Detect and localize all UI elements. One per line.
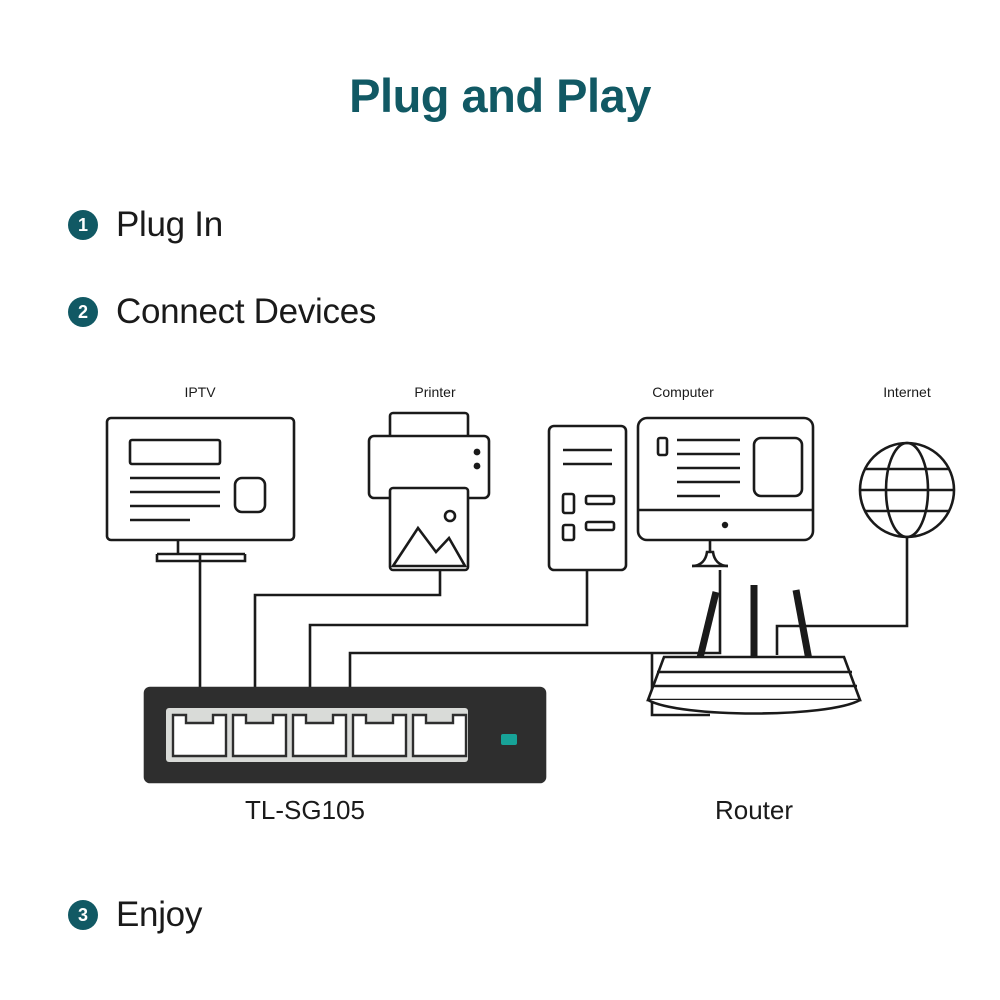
globe-icon — [860, 443, 954, 537]
step-1: 1 Plug In — [68, 205, 223, 245]
link-printer — [255, 570, 440, 690]
step-3-badge: 3 — [68, 900, 98, 930]
caption-computer: Computer — [652, 384, 713, 400]
link-tower — [310, 570, 587, 690]
caption-iptv: IPTV — [184, 384, 215, 400]
monitor-icon — [638, 418, 813, 566]
step-3-label: Enjoy — [116, 895, 202, 935]
television-icon — [107, 418, 294, 561]
step-3: 3 Enjoy — [68, 895, 202, 935]
step-2-badge: 2 — [68, 297, 98, 327]
step-1-badge: 1 — [68, 210, 98, 240]
product-name-switch: TL-SG105 — [245, 795, 365, 826]
caption-printer: Printer — [414, 384, 455, 400]
desktop-tower-icon — [549, 426, 626, 570]
connection-diagram: IPTV Printer Computer Internet TL-SG105 … — [60, 370, 960, 860]
step-1-label: Plug In — [116, 205, 223, 245]
printer-icon — [369, 413, 489, 570]
step-2-label: Connect Devices — [116, 292, 376, 332]
switch-led — [501, 734, 517, 745]
diagram-svg — [60, 370, 960, 840]
step-2: 2 Connect Devices — [68, 292, 376, 332]
caption-internet: Internet — [883, 384, 930, 400]
product-name-router: Router — [715, 795, 793, 826]
network-switch-icon — [145, 688, 545, 782]
page-title: Plug and Play — [0, 68, 1000, 123]
wireless-router-icon — [648, 585, 860, 714]
